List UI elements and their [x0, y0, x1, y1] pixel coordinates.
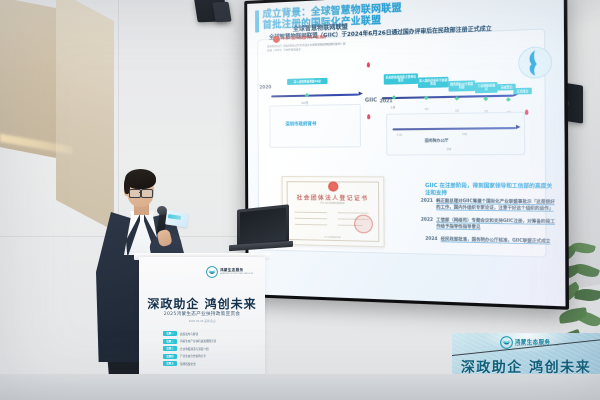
- agenda-item: 议题五 现场答疑交流: [163, 361, 251, 366]
- timeline-pin: [525, 109, 528, 114]
- podium-logo-subtitle: HARMONY ECOSYSTEM SERVICES: [220, 273, 253, 275]
- agenda-badge: 议题一: [163, 331, 177, 336]
- agenda-badge: 议题三: [163, 346, 177, 351]
- timeline-chip: 国务院办公厅批复同意: [448, 80, 475, 91]
- podium-logo-icon: [206, 266, 218, 278]
- timeline-right-subbox: [386, 112, 525, 156]
- conference-photo-scene: 成立背景：全球智慧物联网联盟 首批注册的国际化产业联盟 全球智慧物联网联盟 全球…: [0, 0, 600, 400]
- title-accent-bar: [255, 10, 259, 32]
- timeline-arrow-left: [359, 91, 363, 95]
- timeline-subbox-note: 评审: [447, 147, 452, 151]
- eyeglasses-icon: [141, 189, 153, 198]
- banner-logo-icon: [500, 336, 513, 349]
- timeline-pin: [367, 62, 370, 67]
- timeline-year-left: 2020: [259, 85, 271, 90]
- note-year: 2022: [421, 217, 433, 229]
- note-item: 2022 工信部（网络司）专题会议和支持GIIC注册，对筹备阶段工作给予指导性指…: [421, 217, 556, 231]
- notes-heading: GIIC 在注册阶段，得到国家领导和工信部的高度关注和支持: [425, 182, 558, 198]
- timeline-year-right: 2021: [380, 99, 393, 104]
- note-text: 韩正副总理对GIIC筹建个国际化产业联盟事批示「这是很好的工作，国内外组织专家论…: [436, 198, 555, 211]
- eyeglasses-icon: [129, 189, 141, 198]
- slide-content: 成立背景：全球智慧物联网联盟 首批注册的国际化产业联盟 全球智慧物联网联盟 全球…: [247, 0, 565, 306]
- timeline-left-subbox-title: 深圳市政府背书: [285, 121, 316, 127]
- timeline-chip: 工信部审核通过: [475, 82, 498, 93]
- agenda-item: 议题二 鸿蒙生态产业扶持政策细则宣贯: [163, 339, 251, 344]
- note-item: 2021 韩正副总理对GIIC筹建个国际化产业联盟事批示「这是很好的工作，国内外…: [421, 198, 556, 211]
- eyeglasses-bridge: [139, 192, 141, 193]
- timeline-subtick: 3月: [425, 107, 429, 111]
- laptop-screen: [240, 208, 286, 245]
- agenda-text: 产业生态合作案例分享: [180, 354, 206, 358]
- agenda-text: 现场答疑交流: [180, 362, 196, 366]
- giic-logo-icon: [518, 46, 553, 80]
- agenda-text: 政策发布与解读: [180, 332, 198, 336]
- timeline-subtick: 12月: [462, 132, 468, 136]
- agenda-badge: 议题五: [163, 361, 177, 366]
- note-year: 2021: [421, 198, 433, 210]
- agenda-badge: 议题二: [163, 339, 177, 344]
- certificate-red-stamp-icon: [354, 215, 373, 234]
- certificate-seal-icon: [328, 181, 338, 191]
- timeline-subbox-title: 国务院办公厅: [425, 138, 449, 143]
- timeline-month-right: 2月: [390, 105, 395, 109]
- podium-agenda-list: 议题一 政策发布与解读 议题二 鸿蒙生态产业扶持政策细则宣贯 议题三 企业申报通…: [163, 331, 251, 369]
- certificate-image: 社会团体法人登记证书 中华人民共和国民政部监制 中华人民共和国民政部: [282, 176, 385, 247]
- agenda-text: 鸿蒙生态产业扶持政策细则宣贯: [180, 339, 216, 343]
- timeline-chip: 进入国办评审环节协调阶段: [418, 77, 449, 88]
- timeline-subtick: 11月: [397, 132, 402, 136]
- agenda-item: 议题三 企业申报通道与流程介绍: [163, 346, 251, 351]
- timeline-pin: [367, 114, 370, 119]
- note-year: 2024: [425, 236, 437, 242]
- banner-logo-subtitle: HARMONY ECOSYSTEM SERVICES: [515, 345, 559, 347]
- agenda-text: 企业申报通道与流程介绍: [180, 347, 209, 351]
- timeline-sub-arrow: [516, 125, 521, 129]
- agenda-item: 议题四 产业生态合作案例分享: [163, 354, 251, 359]
- podium-date: 2025.03.24 深圳·南山: [139, 319, 265, 323]
- podium-headline: 深政助企 鸿创未来: [139, 295, 265, 312]
- agenda-item: 议题一 政策发布与解读: [163, 331, 251, 336]
- agenda-badge: 议题四: [163, 354, 177, 359]
- timeline-node-giic: GIIC: [365, 97, 377, 103]
- podium-subhead: 2025鸿蒙生态产业扶持政策宣贯会: [139, 311, 265, 317]
- presentation-screen[interactable]: 成立背景：全球智慧物联网联盟 首批注册的国际化产业联盟 全球智慧物联网联盟 全球…: [244, 0, 569, 310]
- timeline-chip: 正式成立: [513, 88, 531, 95]
- timeline-chip: 民政部发函同意主管单位意见: [384, 73, 418, 84]
- floor: [0, 374, 600, 400]
- note-text: 工信部（网络司）专题会议和支持GIIC注册，对筹备阶段工作给予指导性指导意见: [436, 217, 556, 231]
- ceiling-speaker-icon: [212, 2, 231, 22]
